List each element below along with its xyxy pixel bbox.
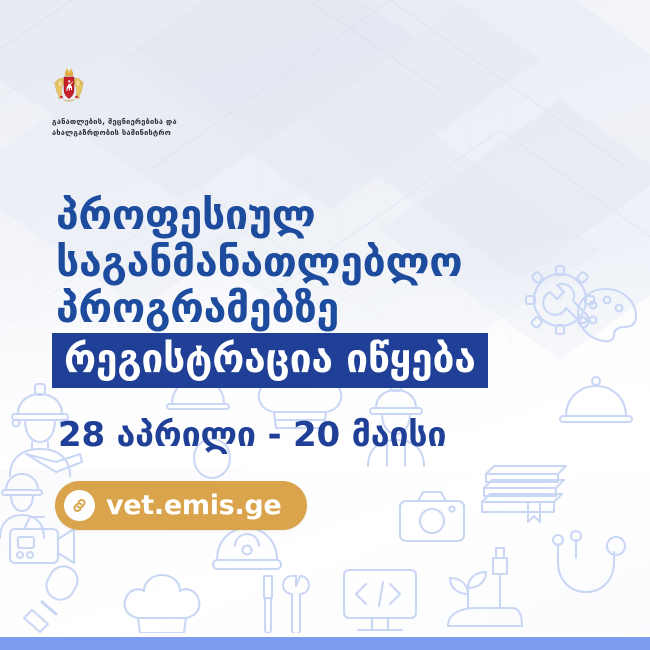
plant-shovel-icon xyxy=(448,548,522,626)
chef-hat-icon xyxy=(125,575,200,633)
website-url-label: vet.emis.ge xyxy=(106,492,281,519)
books-stack-icon xyxy=(482,466,566,522)
ministry-name: განათლების, მეცნიერებისა და ახალგაზრდობი… xyxy=(52,117,352,138)
stethoscope-icon xyxy=(553,531,625,592)
headline-line-1: პროფესიულ xyxy=(56,192,596,239)
photo-camera-icon xyxy=(400,492,464,541)
poster-canvas: განათლების, მეცნიერებისა და ახალგაზრდობი… xyxy=(0,0,650,650)
bottom-accent-bar xyxy=(0,637,650,650)
wrench-screwdriver-icon xyxy=(264,576,309,634)
food-cloche-icon xyxy=(560,377,632,422)
headline-line-2: საგანმანათლებლო xyxy=(56,239,596,286)
link-chain-icon xyxy=(64,490,95,521)
registration-highlight-band: რეგისტრაცია იწყება xyxy=(52,333,488,388)
ministry-lockup: განათლების, მეცნიერებისა და ახალგაზრდობი… xyxy=(52,66,352,138)
police-cap-icon xyxy=(213,528,281,569)
microphone-icon xyxy=(24,561,83,632)
website-url-button[interactable]: vet.emis.ge xyxy=(55,481,307,530)
headline-line-3: პროგრამებზე xyxy=(56,285,596,332)
headline: პროფესიულ საგანმანათლებლო პროგრამებზე xyxy=(56,192,596,332)
code-monitor-icon xyxy=(344,570,416,630)
registration-dates: 28 აპრილი - 20 მაისი xyxy=(58,418,446,452)
registration-highlight-text: რეგისტრაცია იწყება xyxy=(64,340,476,379)
georgia-coat-of-arms-emblem xyxy=(52,66,86,110)
